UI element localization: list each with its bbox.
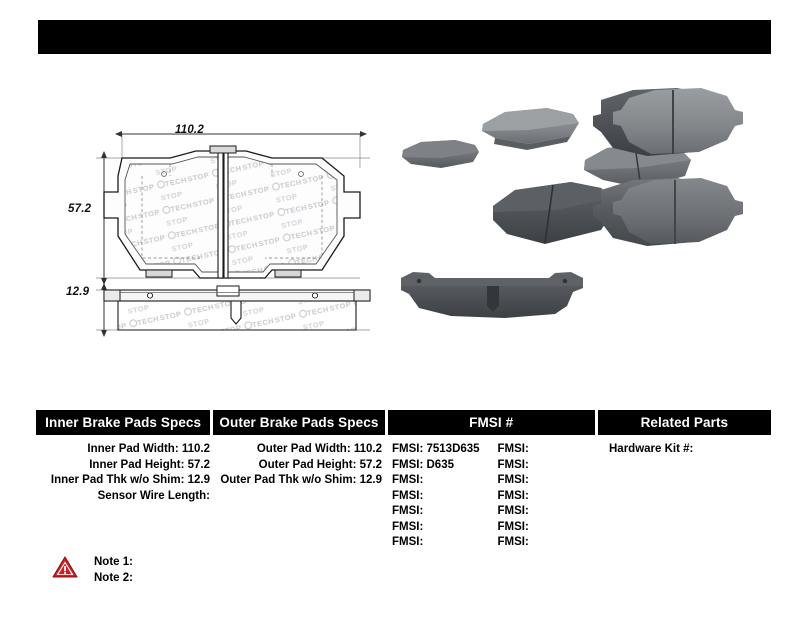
spec-line: Outer Pad Height: 57.2	[214, 458, 386, 474]
fmsi-line: FMSI:	[492, 520, 598, 536]
spec-line: Inner Pad Thk w/o Shim: 12.9	[36, 473, 214, 489]
warning-triangle-icon	[52, 555, 78, 579]
fmsi-line: FMSI:	[386, 504, 492, 520]
fmsi-subcolumn-left: FMSI: 7513D635 FMSI: D635 FMSI: FMSI: FM…	[386, 442, 492, 551]
brake-pad-photo-group	[395, 78, 785, 348]
fmsi-line: FMSI:	[492, 504, 598, 520]
table-header-fmsi: FMSI #	[388, 410, 595, 435]
fmsi-line: FMSI:	[492, 489, 598, 505]
specifications-table: Inner Brake Pads Specs Outer Brake Pads …	[36, 410, 771, 551]
note-line-1: Note 1:	[94, 554, 133, 570]
table-body-row: Inner Pad Width: 110.2 Inner Pad Height:…	[36, 435, 771, 551]
notes-text-group: Note 1: Note 2:	[94, 554, 133, 586]
product-photos	[395, 78, 785, 348]
pad-photo-small-a	[402, 140, 479, 168]
product-type-label: Brake Pad	[682, 28, 757, 46]
brake-pad-cad-drawing: STOP TECH STOP	[60, 118, 390, 348]
fmsi-line: FMSI:	[492, 442, 598, 458]
fmsi-line: FMSI:	[386, 489, 492, 505]
fmsi-line: FMSI: D635	[386, 458, 492, 474]
part-number: 309.06350	[54, 28, 130, 46]
notes-section: Note 1: Note 2:	[52, 554, 133, 586]
fmsi-line: FMSI:	[386, 520, 492, 536]
fmsi-line: FMSI:	[386, 473, 492, 489]
fmsi-line: FMSI:	[386, 535, 492, 551]
fmsi-column: FMSI: 7513D635 FMSI: D635 FMSI: FMSI: FM…	[386, 442, 597, 551]
fmsi-line: FMSI:	[492, 535, 598, 551]
table-header-row: Inner Brake Pads Specs Outer Brake Pads …	[36, 410, 771, 435]
spec-line: Sensor Wire Length:	[36, 489, 214, 505]
fmsi-line: FMSI: 7513D635	[386, 442, 492, 458]
outer-specs-column: Outer Pad Width: 110.2 Outer Pad Height:…	[214, 442, 386, 551]
technical-drawing: 110.2 57.2 12.9 STOP TECH STOP	[60, 118, 390, 348]
spec-line: Inner Pad Height: 57.2	[36, 458, 214, 474]
related-part-line: Hardware Kit #:	[597, 442, 771, 458]
table-header-outer: Outer Brake Pads Specs	[213, 410, 384, 435]
table-header-related-parts: Related Parts	[598, 410, 771, 435]
fmsi-line: FMSI:	[492, 458, 598, 474]
pad-photo-edge-view	[401, 272, 583, 318]
inner-specs-column: Inner Pad Width: 110.2 Inner Pad Height:…	[36, 442, 214, 551]
fmsi-subcolumn-right: FMSI: FMSI: FMSI: FMSI: FMSI: FMSI: FMSI…	[492, 442, 598, 551]
title-bar: 309.06350 Brake Pad	[38, 20, 771, 54]
spec-line: Inner Pad Width: 110.2	[36, 442, 214, 458]
pad-photo-small-b	[482, 108, 579, 150]
table-header-inner: Inner Brake Pads Specs	[36, 410, 210, 435]
spec-line: Outer Pad Thk w/o Shim: 12.9	[214, 473, 386, 489]
fmsi-line: FMSI:	[492, 473, 598, 489]
related-parts-column: Hardware Kit #:	[597, 442, 771, 551]
note-line-2: Note 2:	[94, 570, 133, 586]
spec-line: Outer Pad Width: 110.2	[214, 442, 386, 458]
